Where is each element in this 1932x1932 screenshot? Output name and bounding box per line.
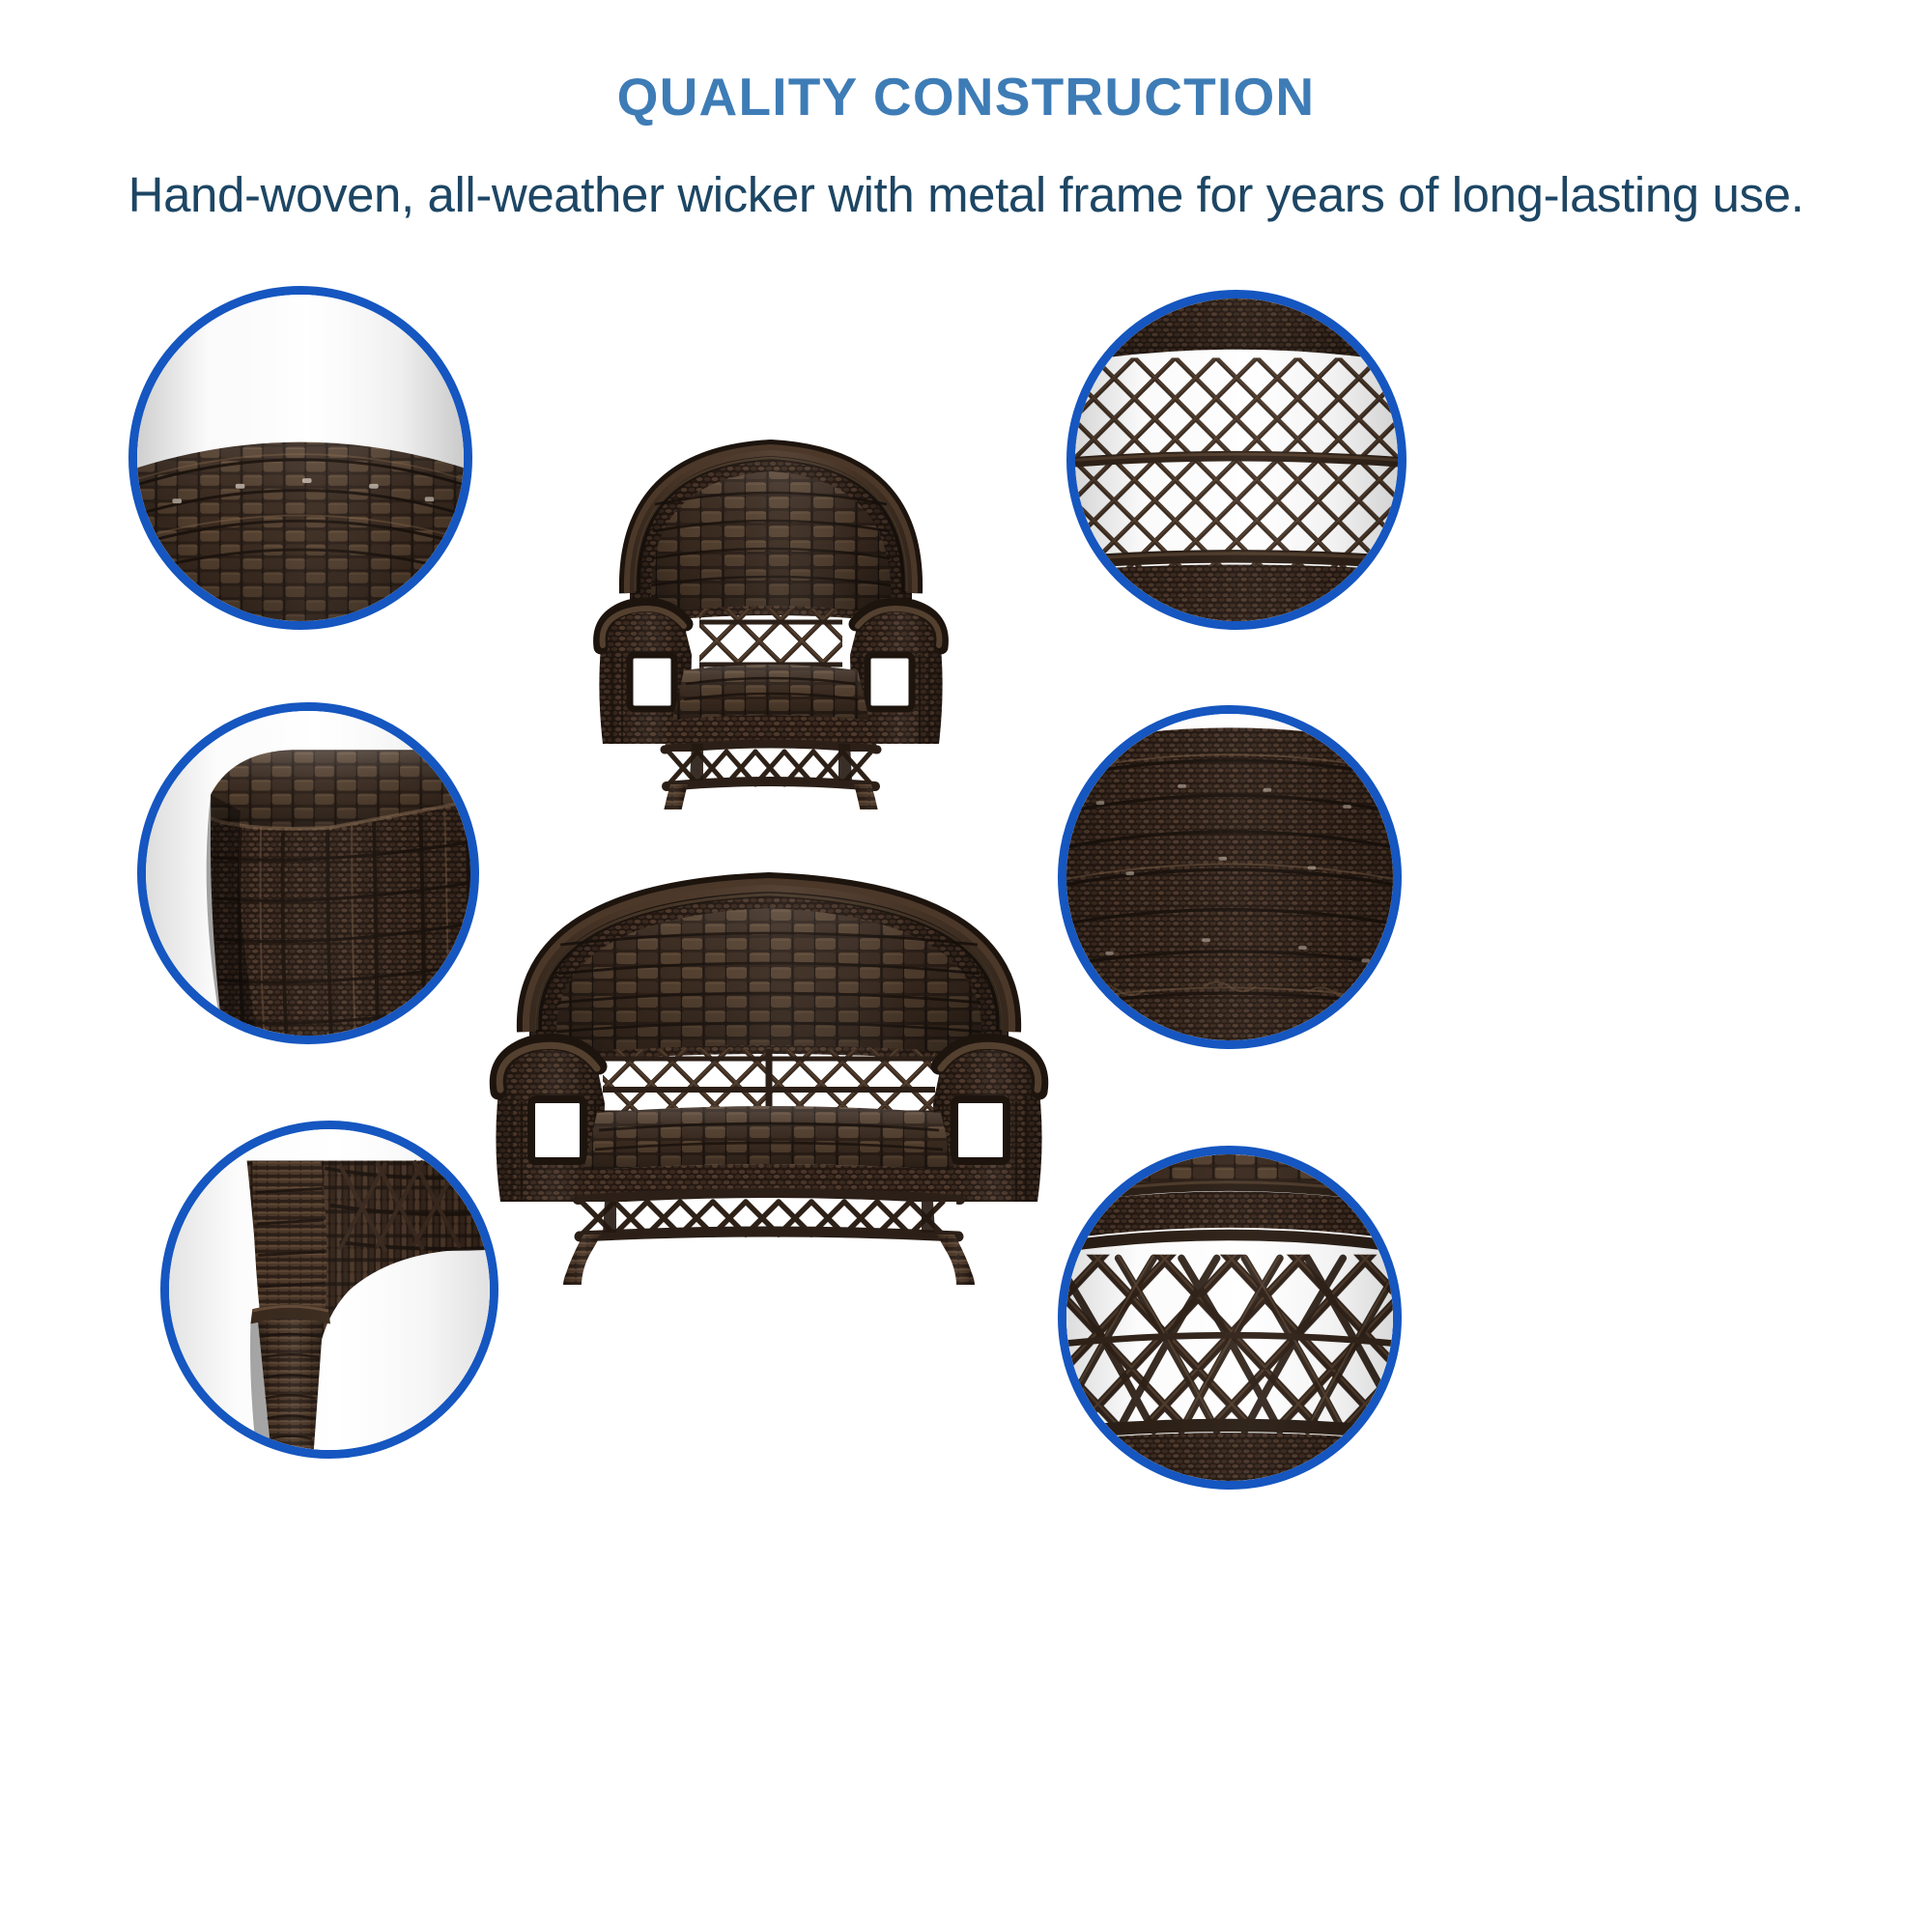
callout-closeup-diamond-lattice <box>1066 290 1406 630</box>
callout-closeup-flat-basketweave <box>128 286 472 630</box>
callout-closeup-tight-weave-seat <box>1058 705 1402 1049</box>
open-lattice-texture <box>1065 1152 1395 1483</box>
callout-closeup-armrest-corner <box>137 702 479 1044</box>
infographic-canvas: QUALITY CONSTRUCTION Hand-woven, all-wea… <box>0 0 1932 1932</box>
tapered-leg-texture <box>167 1127 492 1452</box>
diamond-lattice-texture <box>1073 297 1400 623</box>
product-wicker-armchair <box>568 365 974 810</box>
armchair-illustration <box>568 365 974 810</box>
loveseat-illustration <box>460 850 1078 1285</box>
armrest-corner-texture <box>144 709 472 1037</box>
page-title: QUALITY CONSTRUCTION <box>0 66 1932 128</box>
product-wicker-loveseat <box>460 850 1078 1285</box>
basketweave-texture <box>135 293 466 623</box>
callout-closeup-open-lattice-skirt <box>1058 1146 1402 1490</box>
callout-closeup-tapered-leg <box>160 1121 498 1459</box>
page-subtitle: Hand-woven, all-weather wicker with meta… <box>0 166 1932 223</box>
tight-weave-texture <box>1065 712 1395 1042</box>
